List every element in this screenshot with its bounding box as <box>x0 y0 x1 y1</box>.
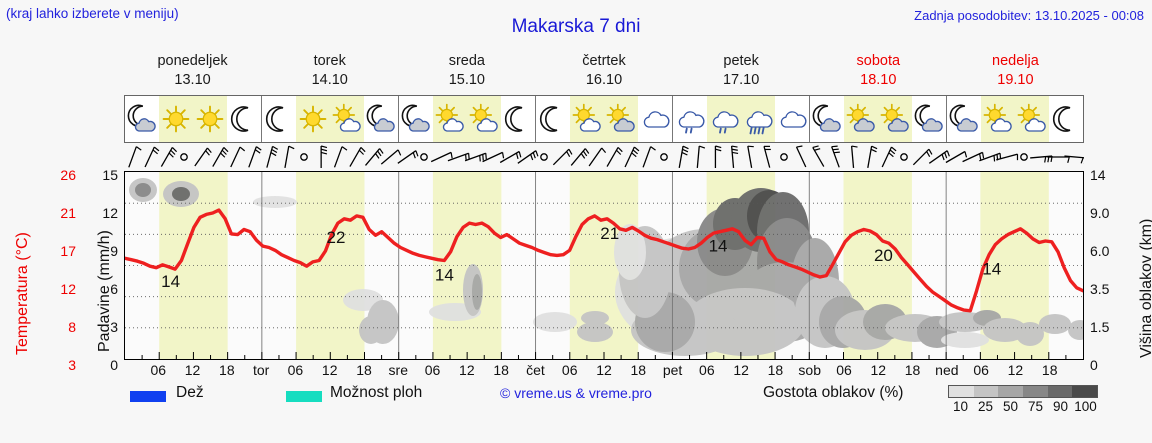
cloud-density-tick: 10 <box>953 399 968 414</box>
x-axis-label: 18 <box>630 362 646 378</box>
day-date: 16.10 <box>535 71 672 90</box>
x-axis-label: 12 <box>185 362 201 378</box>
day-date: 15.10 <box>398 71 535 90</box>
svg-text:14: 14 <box>709 237 728 256</box>
cloud-icon <box>639 103 671 135</box>
day-header-6: nedelja19.10 <box>947 52 1084 92</box>
icon-day-0 <box>125 96 262 142</box>
weather-icon-cell <box>912 96 946 142</box>
x-axis-label: 06 <box>836 362 852 378</box>
weather-icon-cell <box>296 96 330 142</box>
sun-cloud-icon <box>331 103 363 135</box>
weather-icon-cell <box>570 96 604 142</box>
x-axis-label: 18 <box>768 362 784 378</box>
cloud-drizzle-icon <box>708 103 740 135</box>
x-axis-label: 18 <box>493 362 509 378</box>
weather-icon-cell <box>878 96 912 142</box>
axis-tick: 8 <box>68 320 76 334</box>
day-header-0: ponedeljek13.10 <box>124 52 261 92</box>
weather-icon-cell <box>981 96 1015 142</box>
showers-legend-label: Možnost ploh <box>330 384 422 402</box>
last-update-text: Zadnja posodobitev: 13.10.2025 - 00:08 <box>914 8 1144 23</box>
x-axis-label: 06 <box>150 362 166 378</box>
icon-day-5 <box>810 96 947 142</box>
day-name: petek <box>673 52 810 71</box>
cloud-density-swatch-75 <box>1023 386 1048 397</box>
axis-tick: 26 <box>60 168 76 182</box>
moon-cloud-icon <box>400 103 432 135</box>
axis-tick: 3 <box>110 320 118 334</box>
sun-cloud-icon <box>434 103 466 135</box>
axis-tick: 3.5 <box>1090 282 1109 296</box>
day-header-3: četrtek16.10 <box>535 52 672 92</box>
icon-day-4 <box>673 96 810 142</box>
moon-icon <box>1050 103 1082 135</box>
weather-icon-cell <box>262 96 296 142</box>
cloud-density-color-scale <box>948 385 1098 398</box>
icon-day-6 <box>947 96 1083 142</box>
day-name: sreda <box>398 52 535 71</box>
weather-icon-cell <box>467 96 501 142</box>
cloud-density-swatch-10 <box>949 386 974 397</box>
weather-icon-cell <box>399 96 433 142</box>
cloud-rain-icon <box>742 103 774 135</box>
axis-tick: 21 <box>60 206 76 220</box>
axis-tick: 15 <box>102 168 118 182</box>
weather-icon-cell <box>604 96 638 142</box>
day-header-1: torek14.10 <box>261 52 398 92</box>
sun-cloud-icon <box>571 103 603 135</box>
cloud-density-tick: 100 <box>1074 399 1097 414</box>
day-name: nedelja <box>947 52 1084 71</box>
svg-text:21: 21 <box>600 224 619 243</box>
x-axis-label: čet <box>526 362 545 378</box>
svg-text:14: 14 <box>982 260 1001 279</box>
weather-icon-cell <box>125 96 159 142</box>
x-axis-label: 12 <box>596 362 612 378</box>
day-header-row: ponedeljek13.10torek14.10sreda15.10četrt… <box>124 52 1084 92</box>
plot-canvas: 14221421142014211419121981911 <box>125 172 1083 359</box>
day-date: 17.10 <box>673 71 810 90</box>
moon-icon <box>502 103 534 135</box>
axis-tick: 0 <box>110 358 118 372</box>
cloud-icon <box>776 103 808 135</box>
day-date: 13.10 <box>124 71 261 90</box>
axis-tick: 6.0 <box>1090 244 1109 258</box>
x-axis-label: 06 <box>562 362 578 378</box>
x-axis-label: sob <box>798 362 821 378</box>
moon-cloud-icon <box>811 103 843 135</box>
day-header-4: petek17.10 <box>673 52 810 92</box>
chart-legend: Dež Možnost ploh © vreme.us & vreme.pro … <box>0 384 1152 434</box>
x-axis-ticks <box>142 352 1066 359</box>
wind-barb-strip <box>124 143 1084 171</box>
weather-icon-cell <box>433 96 467 142</box>
weather-icon-cell <box>810 96 844 142</box>
weather-icon-cell <box>638 96 672 142</box>
svg-text:22: 22 <box>327 228 346 247</box>
sun-cloud-icon <box>982 103 1014 135</box>
day-name: ponedeljek <box>124 52 261 71</box>
x-axis-labels: 061218tor061218sre061218čet061218pet0612… <box>124 362 1084 382</box>
cloud-density-tick: 50 <box>1003 399 1018 414</box>
copyright-link[interactable]: © vreme.us & vreme.pro <box>500 385 652 401</box>
axis-tick: 1.5 <box>1090 320 1109 334</box>
axis-tick: 14 <box>1090 168 1106 182</box>
x-axis-label: 18 <box>905 362 921 378</box>
weather-icon-cell <box>364 96 398 142</box>
moon-icon <box>228 103 260 135</box>
cloud-density-tick: 25 <box>978 399 993 414</box>
svg-text:14: 14 <box>161 272 180 291</box>
sun-icon <box>160 103 192 135</box>
x-axis-label: 12 <box>733 362 749 378</box>
x-axis-label: 18 <box>219 362 235 378</box>
axis-tick: 9.0 <box>1090 206 1109 220</box>
weather-icon-cell <box>775 96 809 142</box>
x-axis-label: 12 <box>459 362 475 378</box>
axis-tick: 9 <box>110 244 118 258</box>
svg-text:20: 20 <box>874 246 893 265</box>
weather-icon-cell <box>159 96 193 142</box>
x-axis-label: 12 <box>1008 362 1024 378</box>
x-axis-label: sre <box>389 362 408 378</box>
cloud-density-tick: 75 <box>1028 399 1043 414</box>
x-axis-label: pet <box>663 362 682 378</box>
x-axis-label: 12 <box>870 362 886 378</box>
axis-tick: 12 <box>60 282 76 296</box>
cloud-density-legend-title: Gostota oblakov (%) <box>763 384 903 402</box>
weather-icon-cell <box>1049 96 1083 142</box>
day-header-2: sreda15.10 <box>398 52 535 92</box>
axis-tick: 12 <box>102 206 118 220</box>
cloud-density-scale-labels: 1025507590100 <box>948 399 1098 417</box>
cloud-drizzle-icon <box>674 103 706 135</box>
sun-cloud-icon <box>1016 103 1048 135</box>
weather-icon-cell <box>193 96 227 142</box>
x-axis-label: tor <box>253 362 269 378</box>
moon-cloud-icon <box>913 103 945 135</box>
sun-cloud-grey-icon <box>605 103 637 135</box>
day-name: torek <box>261 52 398 71</box>
weather-icon-cell <box>844 96 878 142</box>
weather-icon-cell <box>947 96 981 142</box>
cloud-density-swatch-90 <box>1048 386 1073 397</box>
day-name: sobota <box>810 52 947 71</box>
axis-tick: 0 <box>1090 358 1098 372</box>
svg-text:14: 14 <box>435 265 454 284</box>
axis-tick: 6 <box>110 282 118 296</box>
temperature-axis-title: Temperatura (°C) <box>14 232 32 355</box>
day-date: 18.10 <box>810 71 947 90</box>
weather-icon-cell <box>741 96 775 142</box>
day-date: 14.10 <box>261 71 398 90</box>
weather-icon-cell <box>227 96 261 142</box>
cloud-density-swatch-100 <box>1072 386 1097 397</box>
forecast-plot: 14221421142014211419121981911 <box>124 171 1084 360</box>
x-axis-label: 06 <box>973 362 989 378</box>
x-axis-label: 18 <box>356 362 372 378</box>
sun-cloud-grey-icon <box>845 103 877 135</box>
x-axis-label: ned <box>935 362 958 378</box>
weather-icon-strip <box>124 95 1084 143</box>
sun-cloud-grey-icon <box>879 103 911 135</box>
sun-icon <box>297 103 329 135</box>
moon-cloud-icon <box>365 103 397 135</box>
cloud-density-tick: 90 <box>1053 399 1068 414</box>
icon-day-2 <box>399 96 536 142</box>
weather-icon-cell <box>673 96 707 142</box>
cloud-height-axis-title: Višina oblakov (km) <box>1138 219 1152 358</box>
weather-icon-cell <box>501 96 535 142</box>
day-header-5: sobota18.10 <box>810 52 947 92</box>
moon-icon <box>537 103 569 135</box>
weather-icon-cell <box>536 96 570 142</box>
day-date: 19.10 <box>947 71 1084 90</box>
showers-legend-swatch <box>286 391 322 402</box>
sun-cloud-icon <box>468 103 500 135</box>
day-name: četrtek <box>535 52 672 71</box>
moon-cloud-icon <box>948 103 980 135</box>
weather-icon-cell <box>707 96 741 142</box>
weather-icon-cell <box>330 96 364 142</box>
cloud-density-swatch-25 <box>974 386 999 397</box>
icon-day-1 <box>262 96 399 142</box>
axis-tick: 3 <box>68 358 76 372</box>
moon-icon <box>263 103 295 135</box>
x-axis-label: 06 <box>699 362 715 378</box>
icon-day-3 <box>536 96 673 142</box>
axis-tick: 17 <box>60 244 76 258</box>
x-axis-label: 06 <box>425 362 441 378</box>
rain-legend-label: Dež <box>176 384 204 402</box>
x-axis-label: 06 <box>288 362 304 378</box>
moon-cloud-icon <box>126 103 158 135</box>
rain-legend-swatch <box>130 391 166 402</box>
x-axis-label: 18 <box>1042 362 1058 378</box>
cloud-density-swatch-50 <box>998 386 1023 397</box>
weather-icon-cell <box>1015 96 1049 142</box>
x-axis-label: 12 <box>322 362 338 378</box>
sun-icon <box>194 103 226 135</box>
